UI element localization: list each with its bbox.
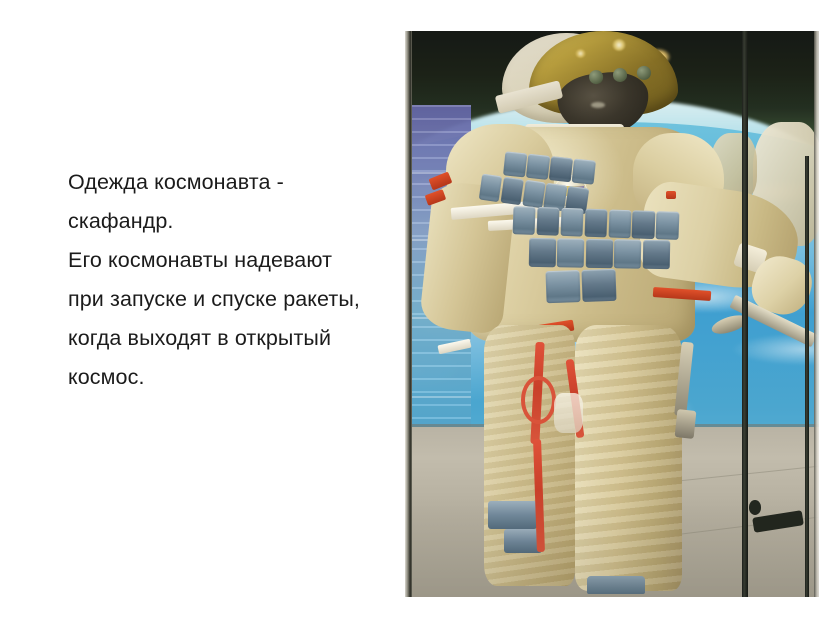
- suit-pocket: [536, 207, 559, 236]
- tether-bag: [554, 393, 583, 433]
- face-highlight: [591, 102, 605, 108]
- paragraph-description: Его космонавты надевают при запуске и сп…: [68, 241, 373, 397]
- visor-stud-icon: [637, 66, 652, 81]
- suit-pocket: [545, 270, 581, 303]
- display-case-edge-right: [814, 31, 819, 597]
- suit-pocket: [584, 209, 607, 238]
- slide-canvas: Одежда космонавта - скафандр. Его космон…: [0, 0, 840, 630]
- spacesuit-photo: [405, 31, 819, 597]
- visor-highlight: [575, 49, 586, 58]
- display-case-edge-left: [405, 31, 412, 597]
- photo-content: [405, 31, 819, 597]
- suit-pocket: [526, 153, 550, 179]
- pocket-row-waist: [529, 238, 670, 270]
- suit-pocket: [557, 239, 584, 269]
- suit-boot-right: [587, 576, 645, 594]
- visor-stud-icon: [589, 70, 604, 85]
- suit-pocket: [572, 158, 596, 184]
- display-pole-far-right: [805, 156, 810, 597]
- pocket-row-hip: [545, 269, 616, 303]
- suit-pocket: [529, 238, 556, 268]
- paragraph-definition: Одежда космонавта - скафандр.: [68, 163, 388, 241]
- suit-pocket: [512, 206, 535, 235]
- suit-pocket: [549, 156, 573, 182]
- suit-hose-connector: [675, 409, 696, 439]
- suit-pocket: [614, 240, 641, 270]
- visor-stud-icon: [613, 68, 628, 83]
- suit-pocket: [586, 239, 613, 269]
- red-tether-loop: [521, 376, 556, 424]
- red-marker-tab: [666, 191, 676, 199]
- display-pole-right: [742, 31, 748, 597]
- suit-pocket: [655, 211, 678, 240]
- suit-pocket: [643, 240, 670, 270]
- suit-pocket: [503, 151, 527, 177]
- suit-leg-right: [575, 325, 683, 591]
- suit-pocket: [500, 177, 524, 206]
- display-pole-knob: [749, 500, 761, 515]
- suit-pocket: [560, 208, 583, 237]
- slide-text-block: Одежда космонавта - скафандр. Его космон…: [68, 163, 388, 397]
- suit-pocket: [478, 174, 502, 203]
- suit-pocket: [581, 269, 617, 302]
- suit-pocket: [521, 180, 545, 209]
- suit-pocket: [631, 211, 654, 240]
- suit-pocket: [608, 210, 631, 239]
- leg-pocket-left: [488, 501, 538, 529]
- suit-strap-white: [438, 339, 472, 355]
